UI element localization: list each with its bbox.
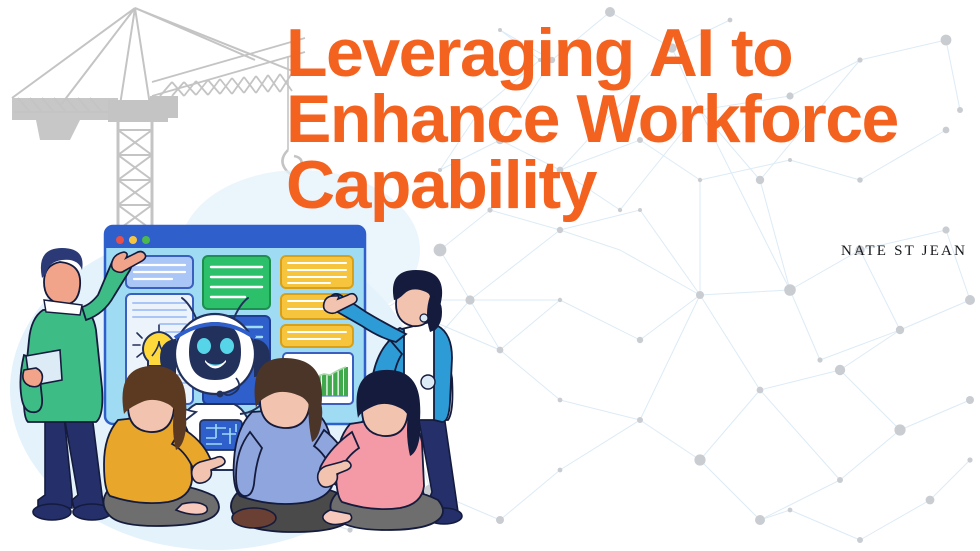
minimize-dot: [129, 236, 137, 244]
ai-team-collaboration-illustration: [0, 0, 980, 551]
maximize-dot: [142, 236, 150, 244]
presentation-slide: Leveraging AI to Enhance Workforce Capab…: [0, 0, 980, 551]
close-dot: [116, 236, 124, 244]
